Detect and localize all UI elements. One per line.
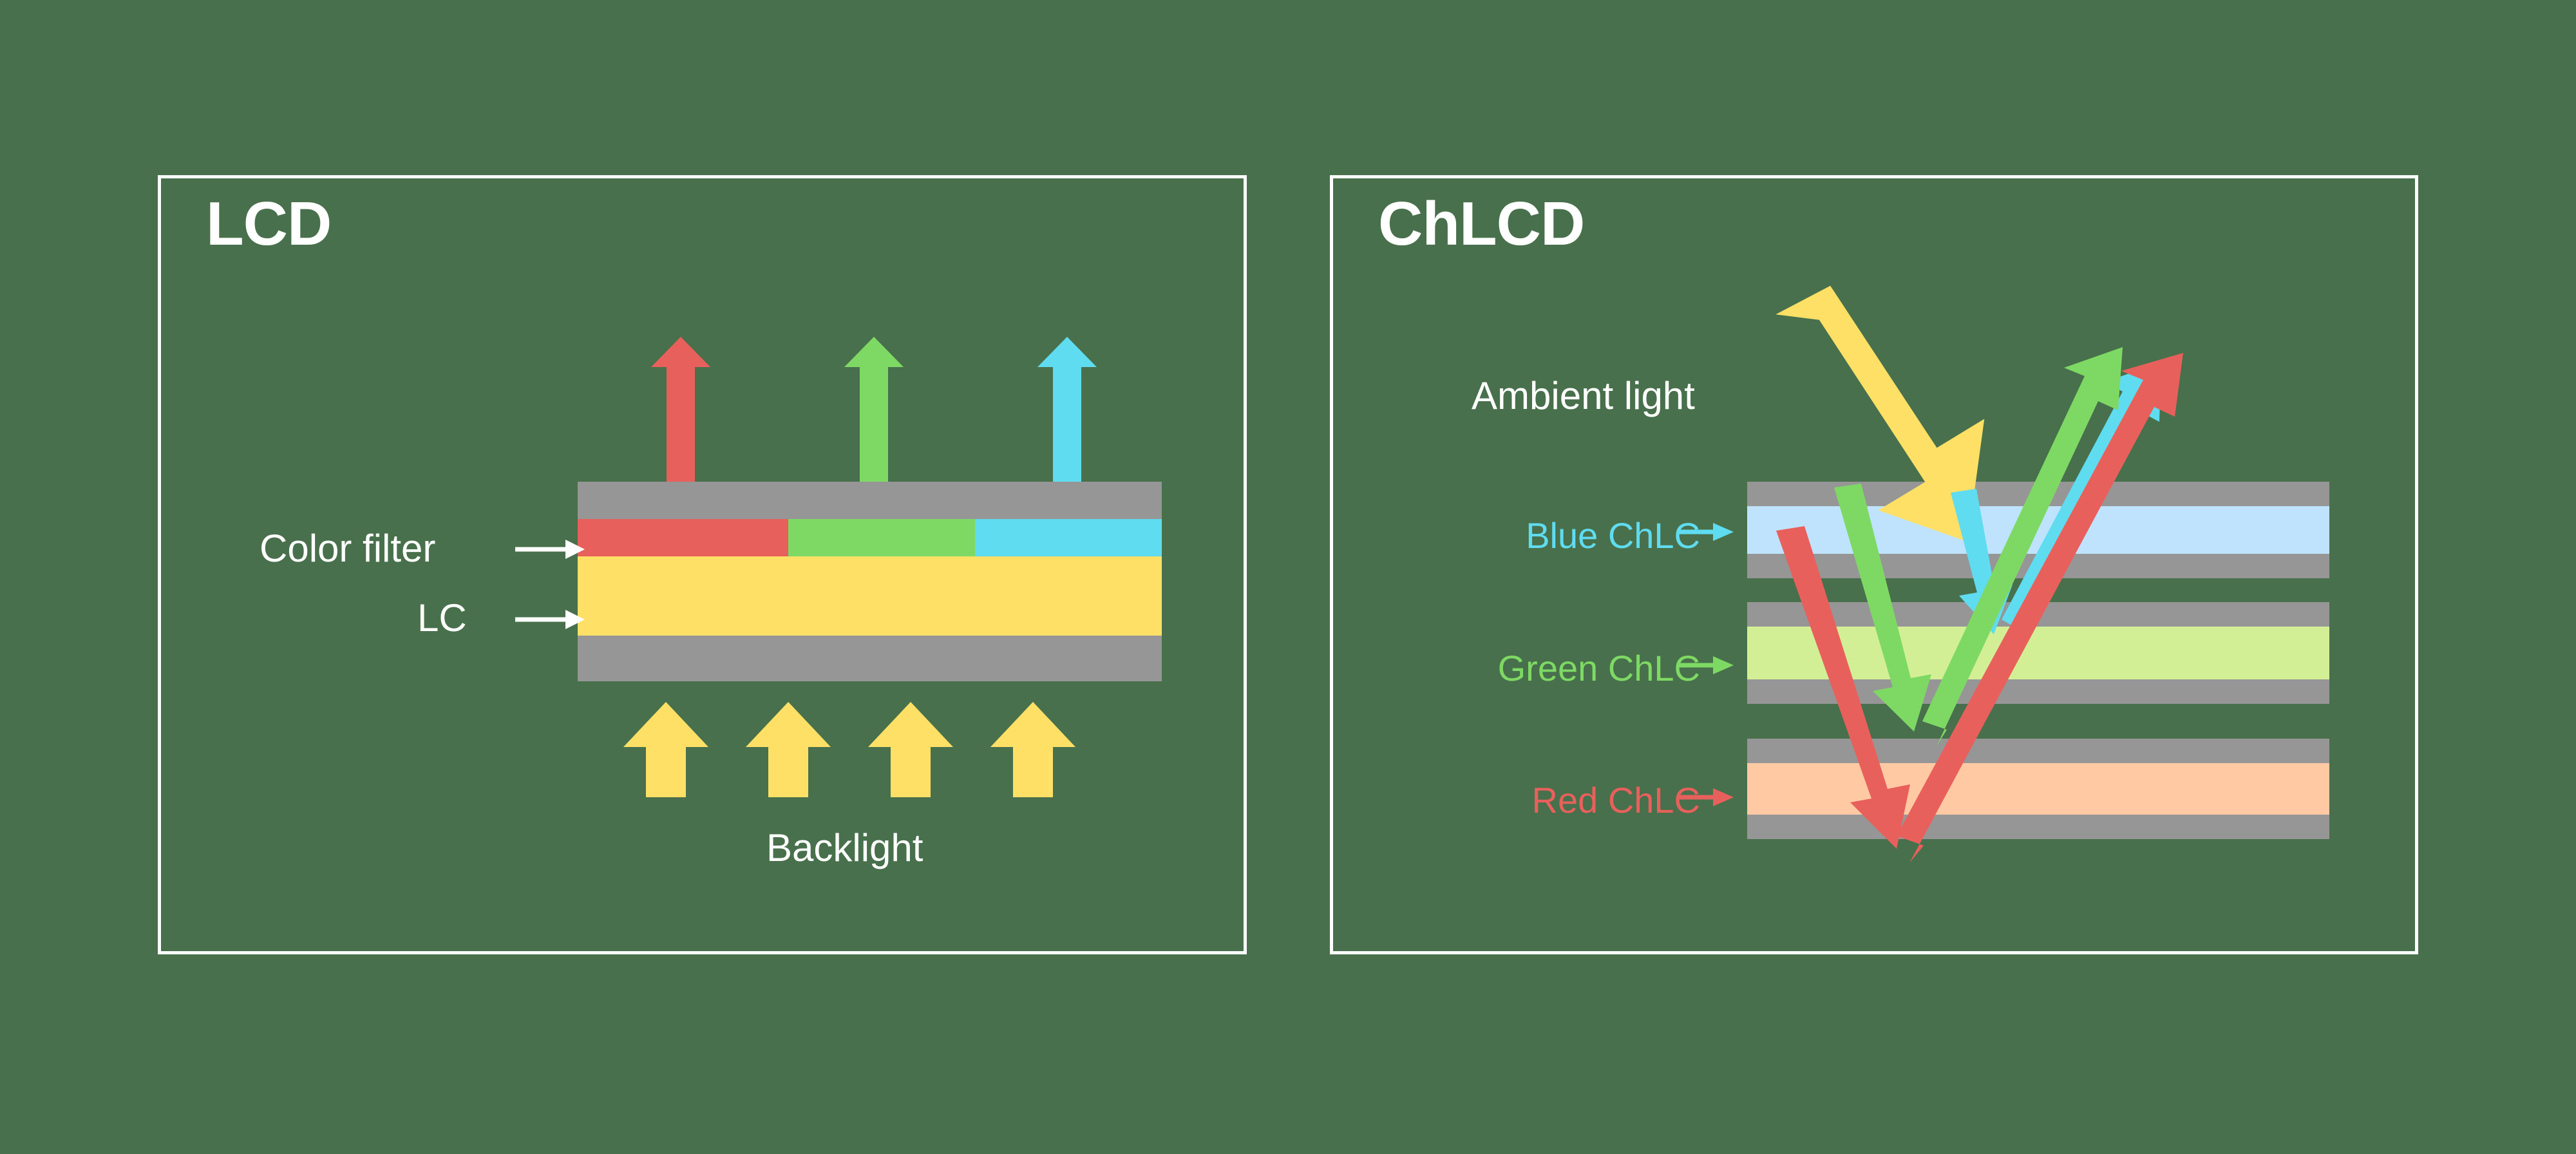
ambient-light-label: Ambient light [1472, 377, 1695, 415]
lcd-panel-title: LCD [206, 193, 331, 255]
red-chlc-label: Red ChLC [1423, 782, 1700, 818]
lcd-liquid-crystal-layer [578, 556, 1162, 636]
green-cell-bottom-substrate [1747, 679, 2329, 704]
lcd-bottom-glass-layer [578, 636, 1162, 681]
red-cell-top-substrate [1747, 739, 2329, 763]
red-cell-bottom-substrate [1747, 815, 2329, 839]
lcd-layer-stack [578, 482, 1162, 681]
blue-chlc-medium [1747, 506, 2329, 554]
red-filter-segment [578, 519, 788, 556]
green-filter-segment [788, 519, 975, 556]
blue-chlc-label: Blue ChLC [1423, 518, 1700, 554]
chlcd-layer-stack [1747, 482, 2329, 860]
green-chlc-medium [1747, 627, 2329, 679]
green-cell-top-substrate [1747, 602, 2329, 627]
green-chlc-label: Green ChLC [1385, 650, 1700, 686]
blue-cell-bottom-substrate [1747, 554, 2329, 578]
diagram-canvas: LCD Color filter LC Backlight ChLCD Ambi… [0, 0, 2576, 1154]
blue-filter-segment [975, 519, 1162, 556]
lcd-top-glass-layer [578, 482, 1162, 519]
lcd-color-filter-layer [578, 519, 1162, 556]
color-filter-label: Color filter [260, 529, 435, 568]
blue-cell-top-substrate [1747, 482, 2329, 506]
chlcd-panel-title: ChLCD [1378, 193, 1584, 255]
lc-label: LC [417, 599, 467, 638]
red-chlc-medium [1747, 763, 2329, 815]
backlight-label: Backlight [766, 829, 923, 867]
